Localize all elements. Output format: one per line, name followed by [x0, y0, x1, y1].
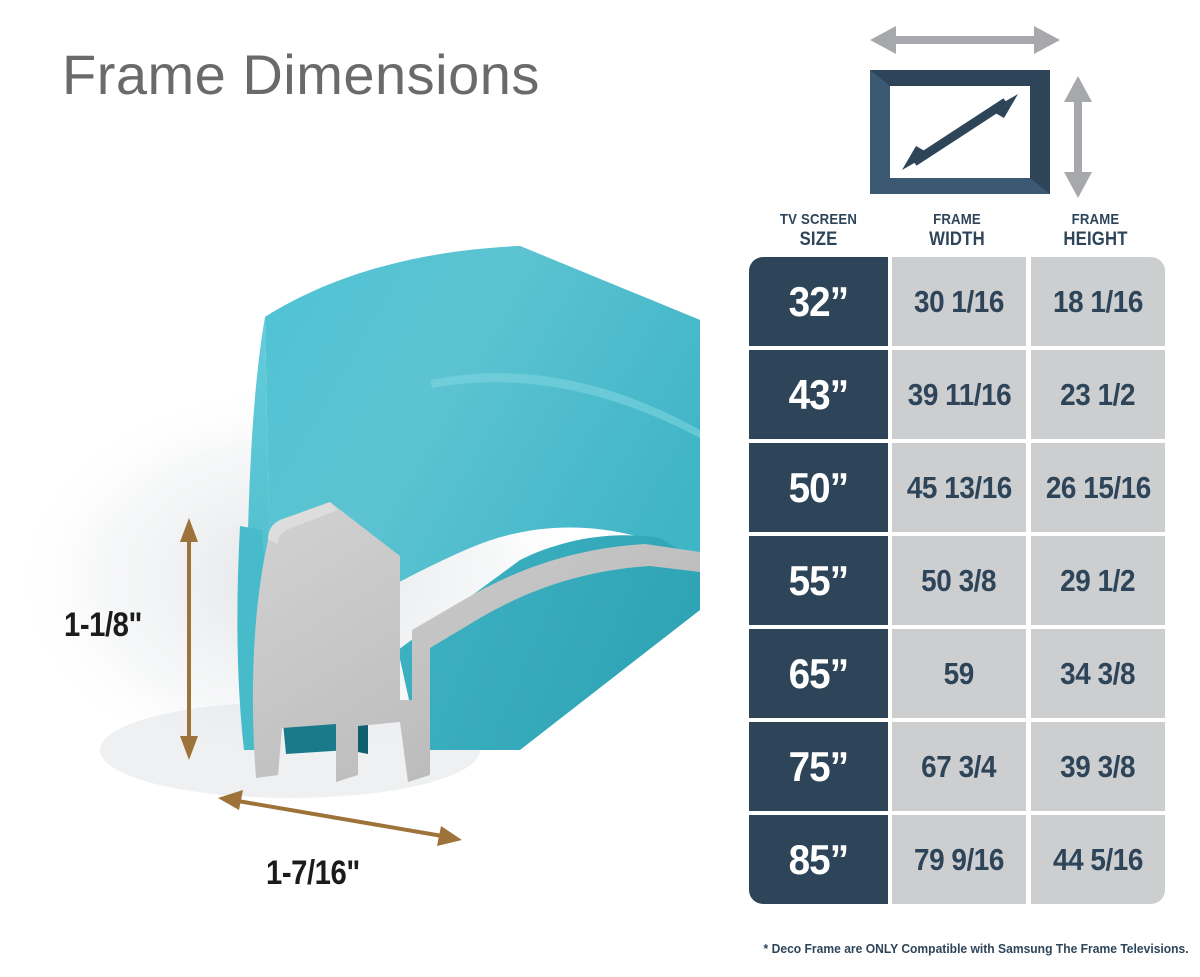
- cell-frame-height: 34 3/8: [1031, 629, 1165, 718]
- header-line-1: FRAME: [1034, 212, 1156, 229]
- cell-text: 79 9/16: [914, 842, 1004, 878]
- cell-text: 50”: [789, 464, 849, 512]
- cell-tv-size: 85”: [749, 815, 888, 904]
- header-line-1: TV SCREEN: [757, 212, 879, 229]
- header-line-2: SIZE: [757, 229, 879, 250]
- cell-frame-height: 29 1/2: [1031, 536, 1165, 625]
- cell-text: 39 11/16: [907, 377, 1010, 413]
- table-footnote: * Deco Frame are ONLY Compatible with Sa…: [764, 941, 1151, 956]
- cell-frame-height: 26 15/16: [1031, 443, 1165, 532]
- cell-text: 32”: [789, 278, 849, 326]
- product-illustration: [0, 230, 700, 850]
- cell-text: 85”: [789, 836, 849, 884]
- cell-frame-height: 18 1/16: [1031, 257, 1165, 346]
- cell-tv-size: 50”: [749, 443, 888, 532]
- cell-frame-width: 45 13/16: [892, 443, 1026, 532]
- column-header-frame-width: FRAME WIDTH: [896, 212, 1017, 250]
- height-arrow-icon: [1064, 76, 1092, 198]
- table-row: 85” 79 9/16 44 5/16: [749, 815, 1165, 904]
- horizontal-dimension-arrow: [218, 790, 462, 846]
- cell-tv-size: 43”: [749, 350, 888, 439]
- page-title: Frame Dimensions: [62, 42, 540, 107]
- cell-text: 50 3/8: [922, 563, 997, 599]
- cell-text: 29 1/2: [1061, 563, 1136, 599]
- table-row: 65” 59 34 3/8: [749, 629, 1165, 718]
- frame-bevel-left: [870, 70, 890, 194]
- width-dimension-label: 1-7/16": [266, 854, 360, 893]
- cell-frame-width: 39 11/16: [892, 350, 1026, 439]
- cell-text: 39 3/8: [1061, 749, 1136, 785]
- table-row: 32” 30 1/16 18 1/16: [749, 257, 1165, 346]
- cell-tv-size: 32”: [749, 257, 888, 346]
- header-line-2: HEIGHT: [1034, 229, 1156, 250]
- tv-size-table: TV SCREEN SIZE FRAME WIDTH FRAME HEIGHT …: [749, 212, 1165, 904]
- cell-text: 75”: [789, 743, 849, 791]
- table-row: 75” 67 3/4 39 3/8: [749, 722, 1165, 811]
- cell-text: 34 3/8: [1061, 656, 1136, 692]
- cell-text: 23 1/2: [1061, 377, 1136, 413]
- cell-text: 55”: [789, 557, 849, 605]
- cell-frame-height: 39 3/8: [1031, 722, 1165, 811]
- cell-text: 26 15/16: [1045, 470, 1150, 506]
- cell-frame-width: 59: [892, 629, 1026, 718]
- tv-frame-measure-icon: [862, 14, 1102, 204]
- frame-bevel-bottom: [870, 178, 1050, 194]
- cell-tv-size: 65”: [749, 629, 888, 718]
- cell-frame-height: 44 5/16: [1031, 815, 1165, 904]
- table-body: 32” 30 1/16 18 1/16 43” 39 11/16 23 1/2 …: [749, 257, 1165, 904]
- cell-tv-size: 75”: [749, 722, 888, 811]
- cell-frame-height: 23 1/2: [1031, 350, 1165, 439]
- cell-text: 45 13/16: [906, 470, 1011, 506]
- width-arrow-icon: [870, 26, 1060, 54]
- cell-text: 43”: [789, 371, 849, 419]
- cell-frame-width: 50 3/8: [892, 536, 1026, 625]
- cell-text: 18 1/16: [1053, 284, 1143, 320]
- table-row: 55” 50 3/8 29 1/2: [749, 536, 1165, 625]
- cell-frame-width: 30 1/16: [892, 257, 1026, 346]
- table-header-row: TV SCREEN SIZE FRAME WIDTH FRAME HEIGHT: [749, 212, 1165, 250]
- cell-tv-size: 55”: [749, 536, 888, 625]
- cell-text: 30 1/16: [914, 284, 1004, 320]
- table-row: 43” 39 11/16 23 1/2: [749, 350, 1165, 439]
- column-header-frame-height: FRAME HEIGHT: [1034, 212, 1156, 250]
- cell-frame-width: 67 3/4: [892, 722, 1026, 811]
- height-dimension-label: 1-1/8": [64, 606, 142, 645]
- table-row: 50” 45 13/16 26 15/16: [749, 443, 1165, 532]
- cell-text: 67 3/4: [922, 749, 997, 785]
- cell-text: 65”: [789, 650, 849, 698]
- cell-frame-width: 79 9/16: [892, 815, 1026, 904]
- header-line-1: FRAME: [896, 212, 1017, 229]
- header-line-2: WIDTH: [896, 229, 1017, 250]
- cell-text: 59: [944, 656, 974, 692]
- column-header-tv-screen-size: TV SCREEN SIZE: [757, 212, 879, 250]
- cell-text: 44 5/16: [1053, 842, 1143, 878]
